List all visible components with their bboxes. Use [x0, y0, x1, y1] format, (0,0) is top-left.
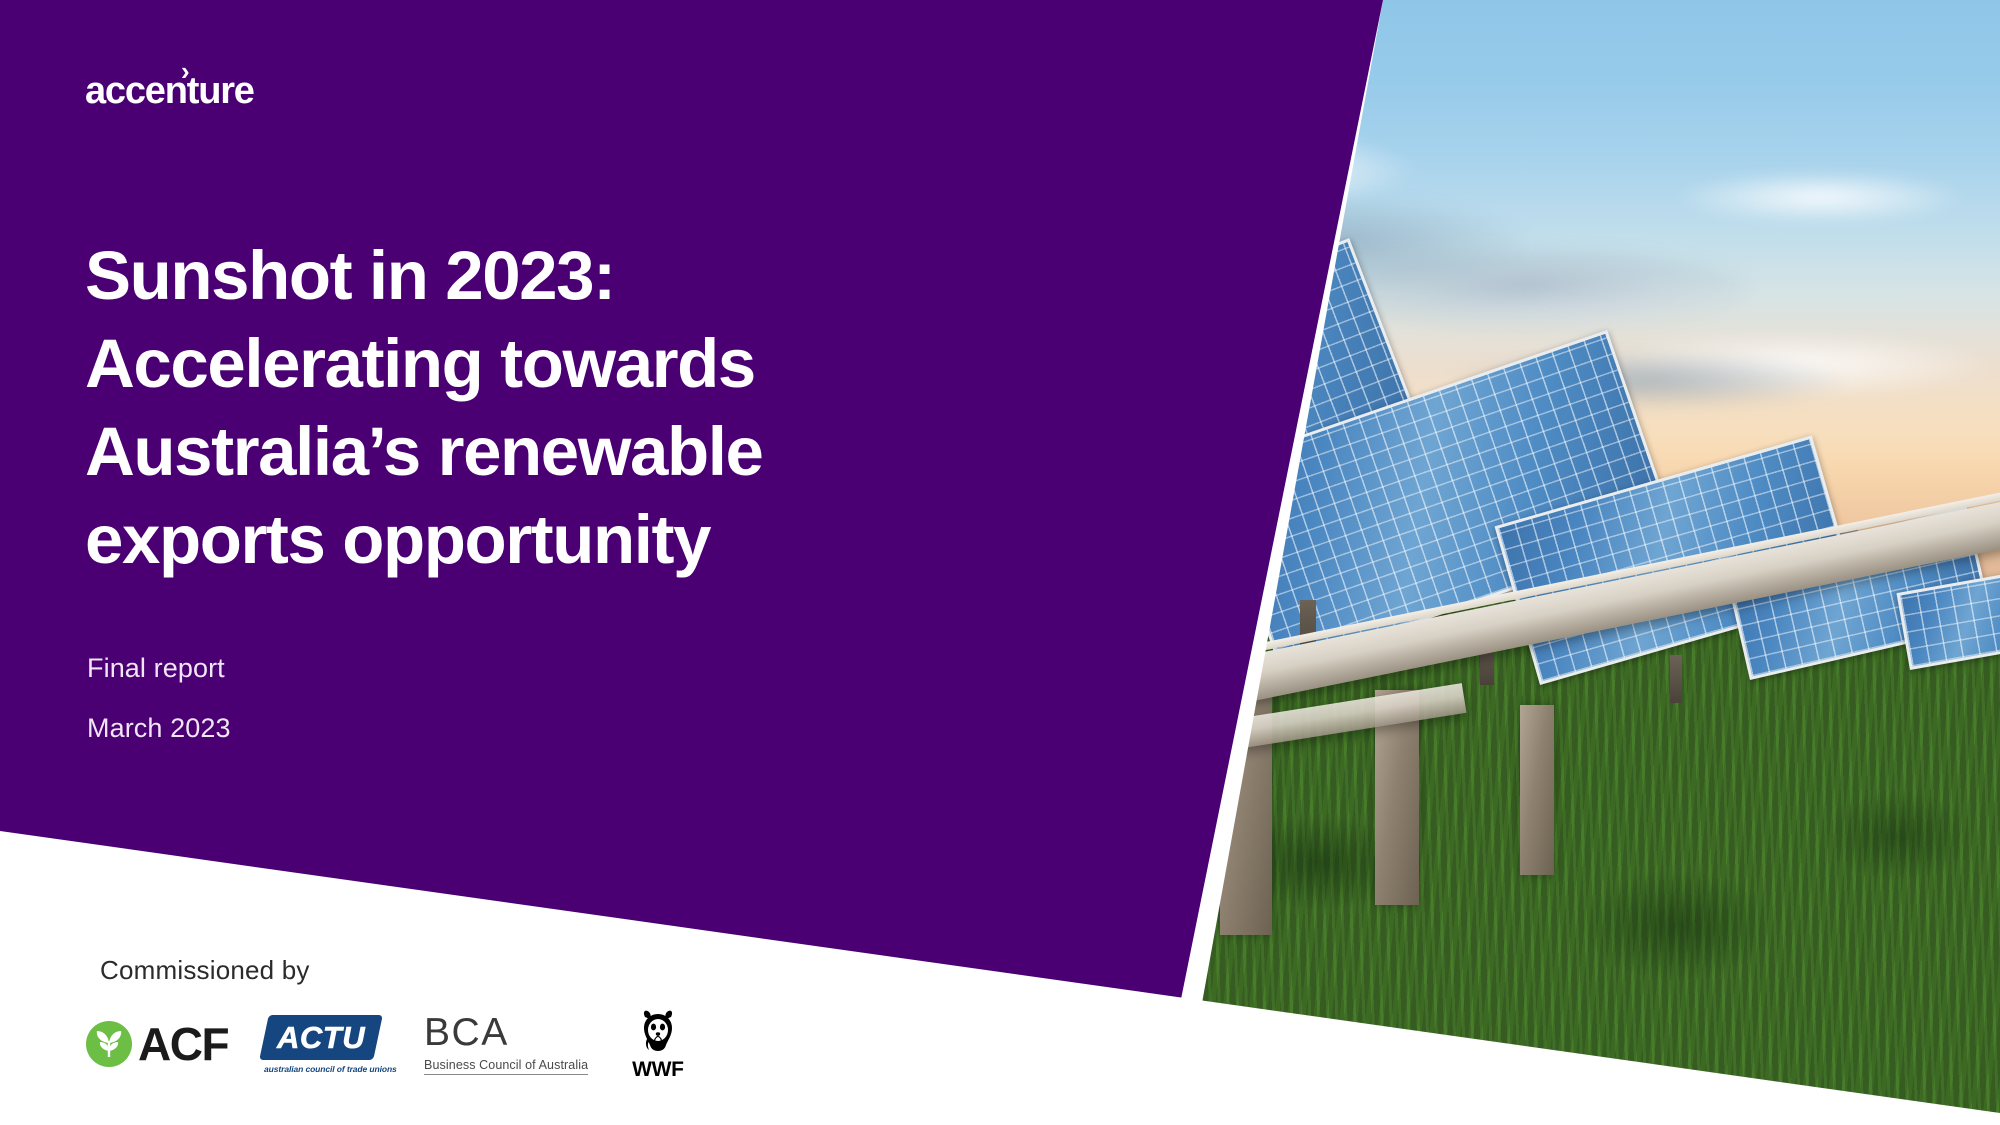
acf-logo[interactable]: ACF — [86, 1018, 228, 1070]
bca-tagline: Business Council of Australia — [424, 1058, 588, 1075]
cover-page: › accenture Sunshot in 2023: Acceleratin… — [0, 0, 2000, 1125]
panda-icon — [632, 1009, 684, 1058]
bca-logo[interactable]: BCA Business Council of Australia — [424, 1013, 588, 1075]
page-title: Sunshot in 2023: Accelerating towards Au… — [85, 232, 985, 584]
leaf-icon — [86, 1021, 132, 1067]
panel-support — [1670, 655, 1682, 703]
concrete-pillar — [1520, 705, 1554, 875]
wwf-logo[interactable]: WWF — [632, 1009, 684, 1080]
title-line: Accelerating towards — [85, 320, 985, 408]
commissioned-by-label: Commissioned by — [100, 955, 310, 986]
report-meta: Final report March 2023 — [87, 655, 231, 742]
cloud-shape — [1670, 170, 1970, 225]
report-date: March 2023 — [87, 715, 231, 742]
bca-wordmark: BCA — [424, 1013, 588, 1052]
title-line: Australia’s renewable — [85, 408, 985, 496]
actu-badge: ACTU — [259, 1015, 383, 1060]
actu-wordmark: ACTU — [277, 1022, 365, 1053]
title-line: exports opportunity — [85, 496, 985, 584]
wwf-wordmark: WWF — [632, 1059, 684, 1080]
accenture-wordmark: accenture — [85, 72, 254, 110]
accenture-logo[interactable]: › accenture — [85, 58, 315, 110]
sponsor-logo-row: ACF ACTU australian council of trade uni… — [86, 1010, 684, 1078]
acf-wordmark: ACF — [138, 1021, 228, 1067]
actu-logo[interactable]: ACTU australian council of trade unions — [264, 1015, 384, 1074]
title-line: Sunshot in 2023: — [85, 232, 985, 320]
report-type: Final report — [87, 655, 231, 682]
actu-tagline: australian council of trade unions — [264, 1064, 384, 1074]
